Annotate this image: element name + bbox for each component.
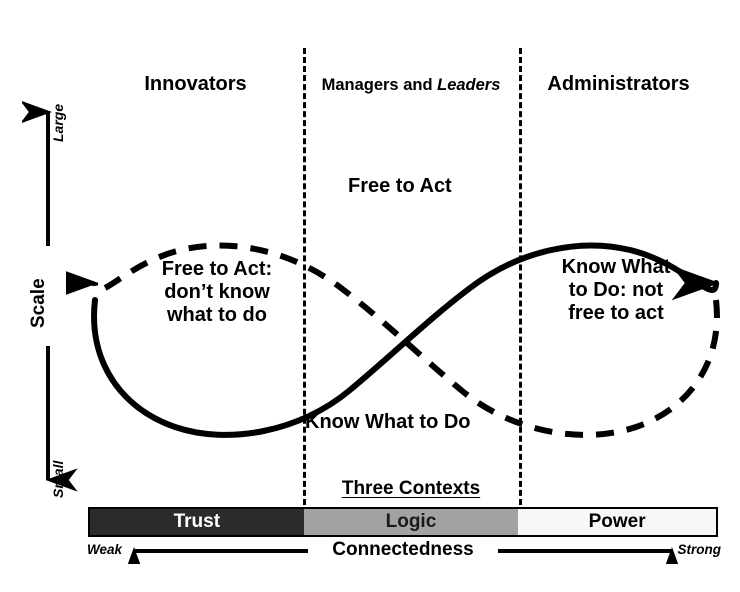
context-bar: Trust Logic Power xyxy=(88,507,718,537)
diagram-canvas: Innovators Managers and Leaders Administ… xyxy=(0,0,740,592)
label-innovators-line3: what to do xyxy=(128,304,306,327)
label-innovators-block: Free to Act: don’t know what to do xyxy=(128,258,306,328)
context-label-logic: Logic xyxy=(386,511,437,533)
managers-label-prefix: Managers and xyxy=(322,76,438,94)
label-innovators-line1: Free to Act: xyxy=(128,258,306,281)
column-heading-managers-and-leaders: Managers and Leaders xyxy=(303,77,519,94)
context-label-trust: Trust xyxy=(174,511,220,533)
scale-axis-bottom-label: Small xyxy=(50,461,66,498)
scale-axis-title: Scale xyxy=(28,278,50,328)
three-contexts-heading: Three Contexts xyxy=(303,478,519,500)
connectedness-right-label: Strong xyxy=(678,542,722,557)
context-segment-power: Power xyxy=(518,509,716,535)
label-innovators-line2: don’t know xyxy=(128,281,306,304)
column-heading-innovators: Innovators xyxy=(88,74,303,95)
context-segment-trust: Trust xyxy=(90,509,304,535)
connectedness-left-label: Weak xyxy=(87,542,122,557)
label-administrators-line2: to Do: not xyxy=(533,279,699,302)
context-label-power: Power xyxy=(589,511,646,533)
scale-axis-top-label: Large xyxy=(50,104,66,142)
label-administrators-line1: Know What xyxy=(533,256,699,279)
scale-axis: Large Scale Small xyxy=(22,96,82,496)
context-segment-logic: Logic xyxy=(304,509,519,535)
connectedness-axis: Weak Connectedness Strong xyxy=(88,540,718,564)
label-administrators-line3: free to act xyxy=(533,302,699,325)
column-heading-administrators: Administrators xyxy=(519,74,718,95)
managers-label-leaders: Leaders xyxy=(437,76,500,94)
label-administrators-block: Know What to Do: not free to act xyxy=(533,256,699,326)
connectedness-axis-title: Connectedness xyxy=(308,539,498,561)
label-know-what-to-do: Know What to Do xyxy=(305,411,471,434)
label-free-to-act: Free to Act xyxy=(348,175,452,198)
divider-logic-power xyxy=(519,48,522,532)
